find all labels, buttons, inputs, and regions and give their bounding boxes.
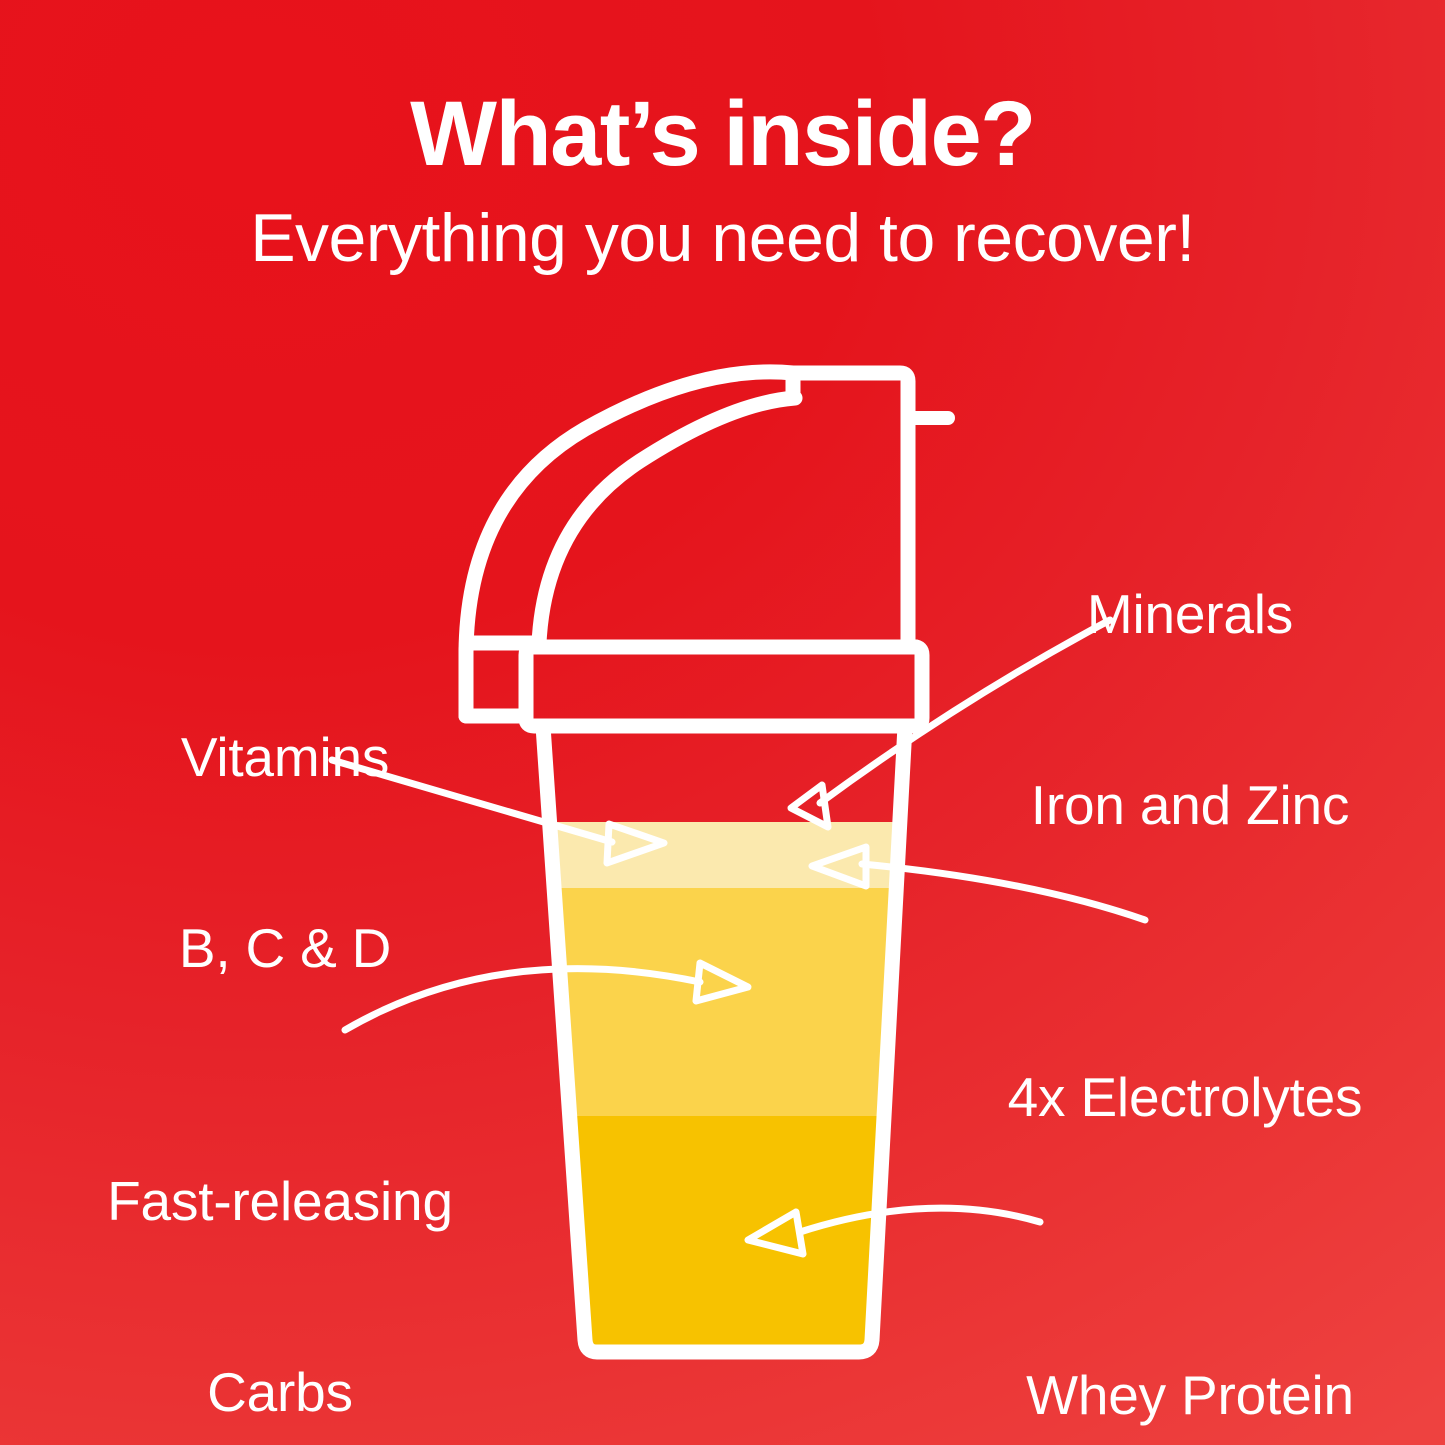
callout-minerals-line1: Minerals (990, 583, 1390, 647)
callout-label-carbs: Fast-releasing Carbs (70, 1042, 490, 1445)
callout-vitamins-line1: Vitamins (120, 726, 450, 790)
flip-top-lid (793, 373, 916, 647)
callout-label-vitamins: Vitamins B, C & D (120, 598, 450, 1108)
liquid-middle-layer (520, 888, 940, 1116)
callout-minerals-line2: Iron and Zinc (990, 774, 1390, 838)
callout-label-minerals: Minerals Iron and Zinc (990, 455, 1390, 965)
arrowhead-minerals (791, 785, 828, 827)
callout-electrolytes-line1: 4x Electrolytes (980, 1066, 1390, 1130)
callout-label-electrolytes: 4x Electrolytes (980, 938, 1390, 1257)
infographic-poster: What’s inside? Everything you need to re… (0, 0, 1445, 1445)
callout-whey-line1: Whey Protein (990, 1364, 1390, 1428)
collar-rim (526, 647, 922, 726)
lid-dome-inner (466, 398, 795, 716)
callout-label-whey: Whey Protein (990, 1236, 1390, 1445)
callout-carbs-line2: Carbs (70, 1361, 490, 1425)
callout-carbs-line1: Fast-releasing (70, 1170, 490, 1234)
callout-vitamins-line2: B, C & D (120, 917, 450, 981)
